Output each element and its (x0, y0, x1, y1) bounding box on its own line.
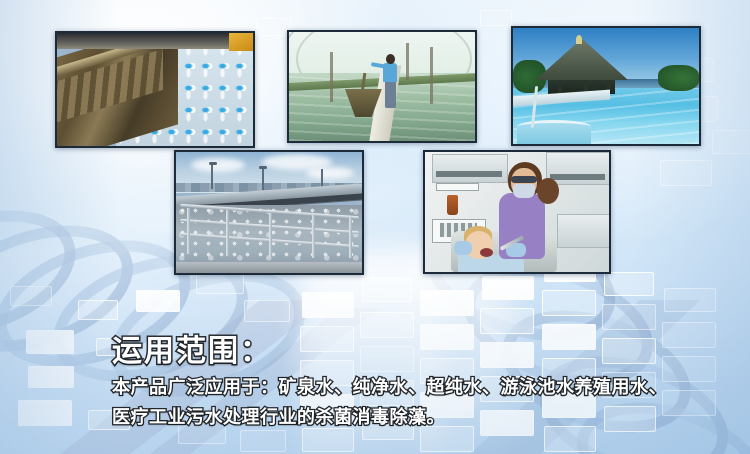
background-light-shaft-secondary (420, 255, 510, 454)
support-pole-mid (406, 43, 409, 80)
railing-post-3 (269, 213, 272, 259)
support-pole-left (330, 52, 333, 102)
photo-aquaculture (287, 30, 477, 143)
face-mask (513, 184, 535, 198)
lamp-head-2 (259, 166, 267, 169)
lamp-post-2 (262, 167, 264, 190)
railing-post-5 (349, 217, 352, 258)
promotional-banner: 运用范围： 本产品广泛应用于：矿泉水、纯净水、超纯水、游泳池水养殖用水、 医疗工… (0, 0, 750, 454)
photo-dental-clinic (423, 150, 611, 274)
photo-bottling-line (55, 31, 255, 148)
counter-unit (557, 214, 609, 247)
railing-post-2 (226, 210, 229, 256)
worker-head (386, 54, 395, 64)
machine-yellow-guard (229, 33, 253, 51)
worker-legs (385, 82, 396, 108)
wall-cabinet-right (546, 152, 609, 185)
safety-goggles (511, 176, 537, 183)
cabinet-shadow-left (436, 171, 502, 177)
pool-steps (517, 120, 591, 144)
wall-label (436, 183, 478, 191)
railing-post-1 (187, 208, 190, 254)
railing-post-4 (312, 215, 315, 259)
foreground-walkway (176, 262, 362, 273)
cloud-3 (306, 167, 354, 179)
gloved-hand-left (454, 241, 472, 255)
worker-torso (383, 63, 397, 82)
roof-finial (576, 35, 582, 44)
cabinet-shadow-right (550, 174, 605, 180)
machine-top-shadow (57, 33, 253, 49)
cloud-1 (191, 158, 245, 172)
palm-foliage-right (658, 65, 699, 91)
photo-wastewater-plant (174, 150, 364, 275)
background-light-shaft (300, 250, 440, 454)
medicine-bottle (447, 195, 458, 215)
wall-cabinet-left (432, 154, 508, 182)
lamp-post-1 (211, 163, 213, 190)
lamp-head-1 (209, 162, 217, 165)
support-pole-right (430, 47, 433, 104)
photo-swimming-pool (511, 26, 701, 146)
